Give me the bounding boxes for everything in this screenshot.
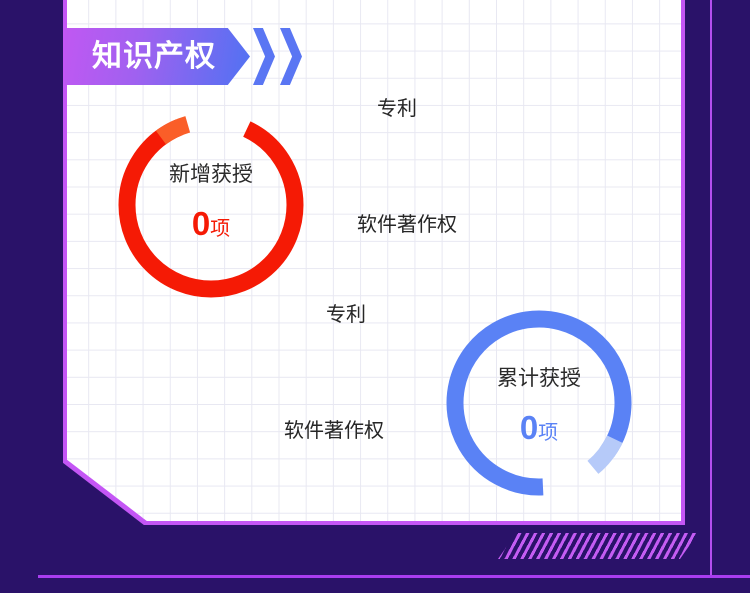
decor-hatch-stripes <box>498 533 698 559</box>
label-patent-top: 专利 <box>377 99 417 119</box>
donut-chart-cumulative-granted: 累计获授 0项 <box>446 310 632 496</box>
donut-unit-new-granted: 项 <box>210 218 230 240</box>
donut-title-new-granted: 新增获授 <box>118 164 304 185</box>
donut-arc-patent <box>127 121 295 289</box>
section-title-text: 知识产权 <box>92 42 216 72</box>
donut-number-new-granted: 0 <box>192 205 210 242</box>
donut-unit-cumulative-granted: 项 <box>538 422 558 444</box>
donut-svg-cumulative-granted <box>446 310 632 496</box>
donut-chart-new-granted: 新增获授 0项 <box>118 112 304 298</box>
infographic-stage: 知识产权 新增获授 0项 累计获授 0项 专利 软件著作权 专利 软件著作权 <box>0 0 750 593</box>
donut-title-cumulative-granted: 累计获授 <box>446 368 632 389</box>
label-patent-bottom: 专利 <box>326 305 366 325</box>
decor-vertical-line <box>710 0 712 575</box>
label-software-copyright-top: 软件著作权 <box>357 215 457 235</box>
decor-horizontal-line <box>38 575 750 578</box>
donut-value-new-granted: 0项 <box>118 207 304 240</box>
section-title-banner: 知识产权 <box>65 28 250 85</box>
donut-svg-new-granted <box>118 112 304 298</box>
donut-number-cumulative-granted: 0 <box>520 409 538 446</box>
donut-value-cumulative-granted: 0项 <box>446 411 632 444</box>
label-software-copyright-bottom: 软件著作权 <box>284 421 384 441</box>
